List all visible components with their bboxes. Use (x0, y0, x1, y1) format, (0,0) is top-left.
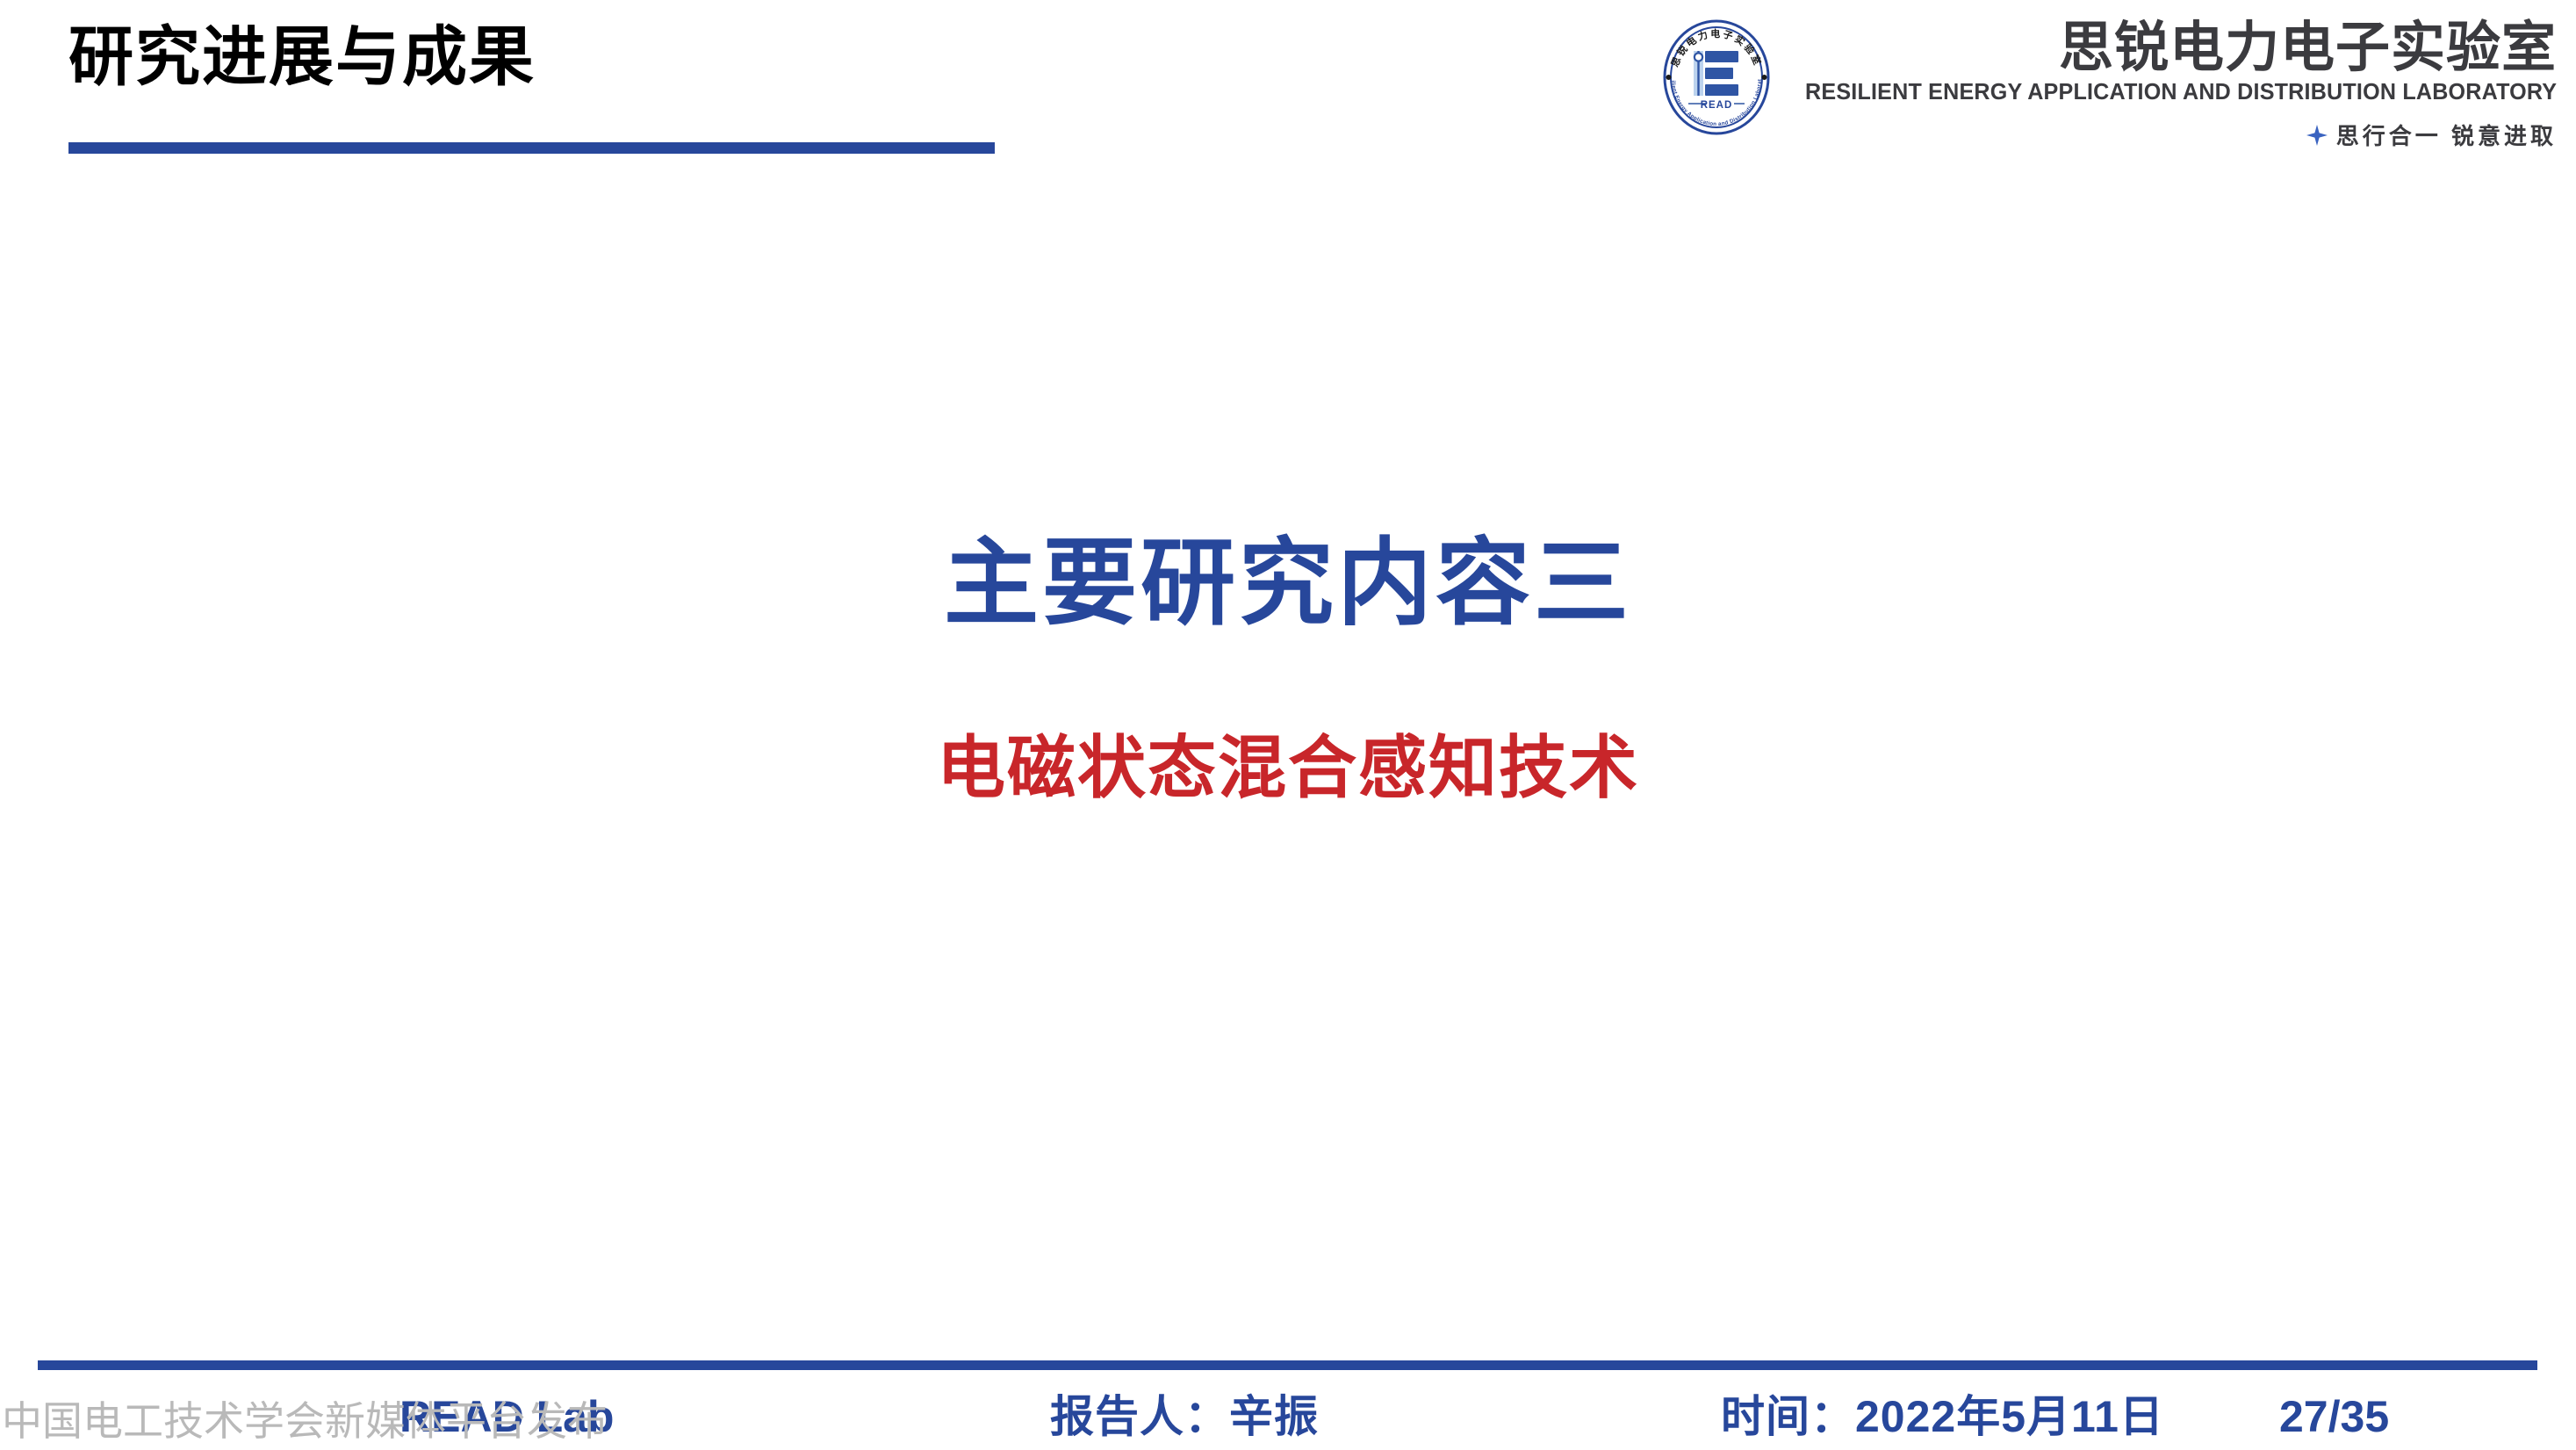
main-subheading: 电磁状态混合感知技术 (0, 731, 2576, 806)
lab-tagline: 思行合一 锐意进取 (2306, 119, 2557, 151)
lab-seal-icon: 思锐电力电子实验室 Resilient Energy Application a… (1657, 16, 1776, 135)
footer-page-number: 27/35 (2279, 1393, 2389, 1441)
four-point-star-icon (2306, 125, 2328, 146)
footer-divider (38, 1360, 2537, 1370)
slide-canvas: 研究进展与成果 思锐电力电子实验室 Resilient (0, 0, 2576, 1450)
main-heading: 主要研究内容三 (0, 531, 2576, 636)
lab-logo: 思锐电力电子实验室 Resilient Energy Application a… (1657, 12, 2557, 151)
lab-tagline-text: 思行合一 锐意进取 (2336, 119, 2557, 151)
lab-logo-text: 思锐电力电子实验室 RESILIENT ENERGY APPLICATION A… (1794, 12, 2557, 151)
page-title: 研究进展与成果 (68, 25, 536, 90)
svg-text:READ: READ (1700, 100, 1732, 111)
footer-speaker-label: 报告人：辛振 (1050, 1393, 1319, 1441)
lab-name-en: RESILIENT ENERGY APPLICATION AND DISTRIB… (1805, 80, 2557, 105)
lab-name-cn: 思锐电力电子实验室 (2059, 19, 2557, 76)
watermark-text: 中国电工技术学会新媒体平台发布 (2, 1398, 608, 1445)
footer-date-label: 时间：2022年5月11日 (1721, 1393, 2164, 1441)
header-divider (68, 142, 995, 154)
